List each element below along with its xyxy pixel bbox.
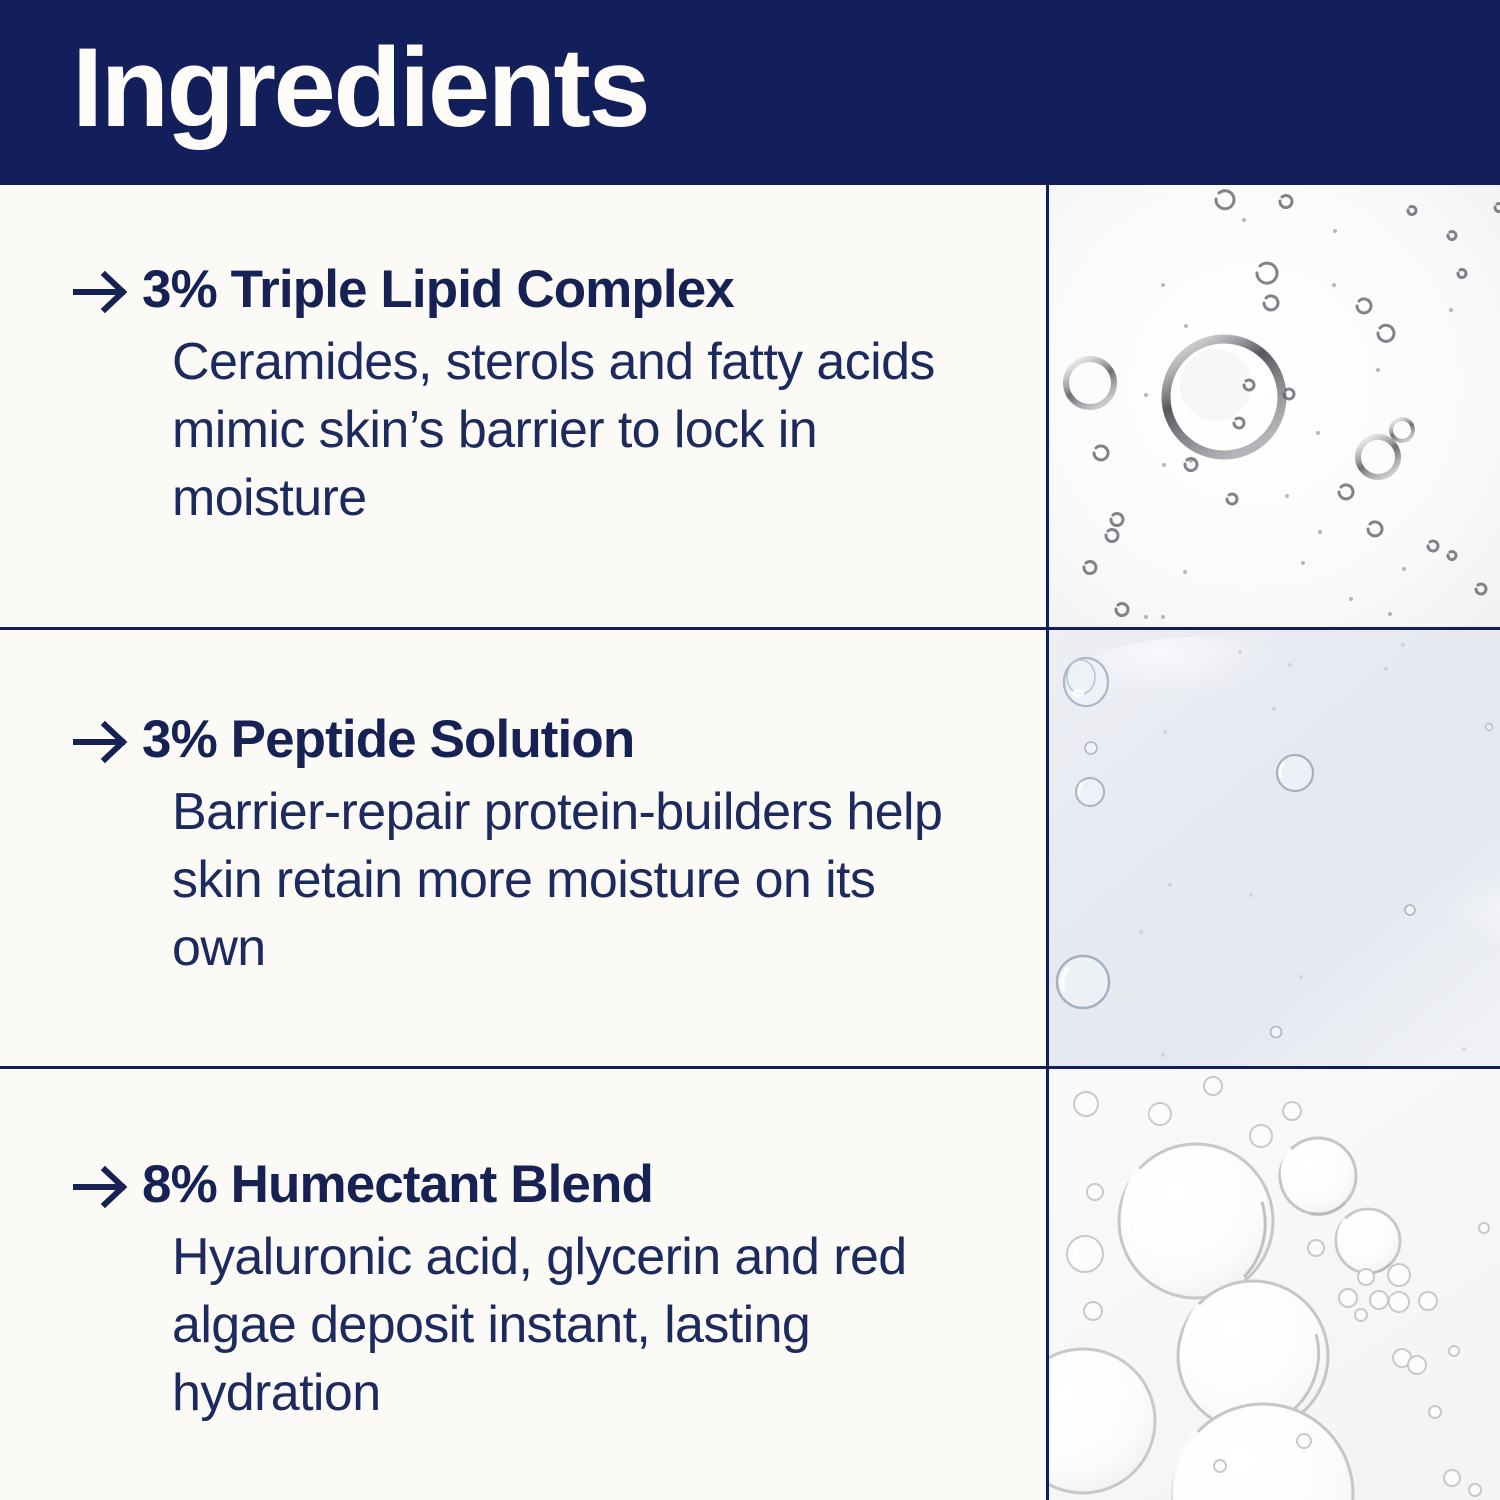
header-bar: Ingredients xyxy=(0,0,1500,185)
page-title: Ingredients xyxy=(72,22,648,154)
ingredient-row: 8% Humectant Blend Hyaluronic acid, glyc… xyxy=(0,1066,1500,1500)
ingredient-text-cell: 3% Peptide Solution Barrier-repair prote… xyxy=(0,627,1048,1066)
row-divider xyxy=(0,1066,1500,1069)
ingredient-row: 3% Triple Lipid Complex Ceramides, stero… xyxy=(0,185,1500,627)
ingredients-infographic: Ingredients 3% Triple Lipid Complex Cera… xyxy=(0,0,1500,1500)
ingredient-description: Hyaluronic acid, glycerin and red algae … xyxy=(172,1223,958,1427)
ingredient-title: 3% Peptide Solution xyxy=(142,712,634,768)
ingredients-grid: 3% Triple Lipid Complex Ceramides, stero… xyxy=(0,185,1500,1500)
ingredient-entry: 3% Peptide Solution Barrier-repair prote… xyxy=(72,712,958,982)
ingredient-description: Ceramides, sterols and fatty acids mimic… xyxy=(172,328,958,532)
ingredient-row: 3% Peptide Solution Barrier-repair prote… xyxy=(0,627,1500,1066)
column-divider xyxy=(1046,185,1049,1500)
blue-gel-bubbles-macro-photo xyxy=(1048,627,1500,1066)
ingredient-title: 3% Triple Lipid Complex xyxy=(142,262,734,318)
ingredient-description: Barrier-repair protein-builders help ski… xyxy=(172,778,958,982)
arrow-right-icon xyxy=(72,1159,142,1215)
oil-bubbles-macro-photo xyxy=(1048,185,1500,627)
arrow-right-icon xyxy=(72,714,142,770)
ingredient-title: 8% Humectant Blend xyxy=(142,1157,653,1213)
clear-gel-large-bubbles-macro-photo xyxy=(1048,1066,1500,1500)
ingredient-text-cell: 8% Humectant Blend Hyaluronic acid, glyc… xyxy=(0,1066,1048,1500)
ingredient-image-oil-bubbles xyxy=(1048,185,1500,627)
ingredient-heading: 3% Triple Lipid Complex xyxy=(72,262,958,320)
ingredient-entry: 8% Humectant Blend Hyaluronic acid, glyc… xyxy=(72,1157,958,1427)
ingredient-heading: 8% Humectant Blend xyxy=(72,1157,958,1215)
arrow-right-icon xyxy=(72,264,142,320)
ingredient-image-clear-gel xyxy=(1048,1066,1500,1500)
ingredient-image-blue-gel xyxy=(1048,627,1500,1066)
ingredient-heading: 3% Peptide Solution xyxy=(72,712,958,770)
ingredient-text-cell: 3% Triple Lipid Complex Ceramides, stero… xyxy=(0,185,1048,627)
row-divider xyxy=(0,627,1500,630)
ingredient-entry: 3% Triple Lipid Complex Ceramides, stero… xyxy=(72,262,958,532)
